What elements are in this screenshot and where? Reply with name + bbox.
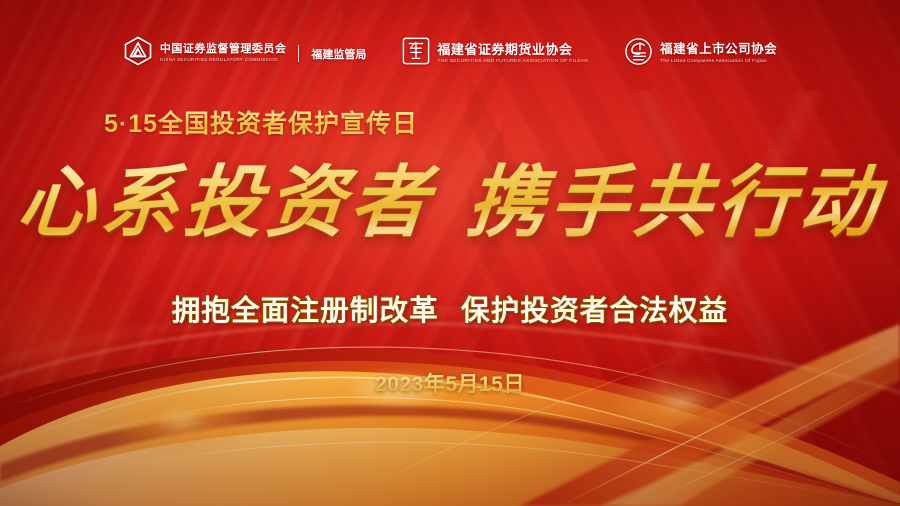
logo-csrc: 中国证券监督管理委员会 CHINA SECURITIES REGULATORY … (123, 36, 367, 71)
logo-fujian-securities-futures-association: 福建省证券期货业协会 THE SECURITIES AND FUTURES AS… (402, 37, 588, 70)
csrc-name-cn: 中国证券监督管理委员会 (160, 44, 287, 56)
logo-divider (298, 45, 299, 62)
csrc-logo-text: 中国证券监督管理委员会 CHINA SECURITIES REGULATORY … (160, 44, 287, 63)
fsfa-name-en: THE SECURITIES AND FUTURES ASSOCIATION O… (437, 59, 588, 64)
event-date: 2023年5月15日 (0, 368, 900, 398)
investor-protection-poster: 中国证券监督管理委员会 CHINA SECURITIES REGULATORY … (0, 0, 900, 506)
csrc-name-en: CHINA SECURITIES REGULATORY COMMISSION (160, 58, 287, 62)
headline-part-2: 携手共行动 (463, 157, 886, 248)
campaign-day-label: 5·15全国投资者保护宣传日 (104, 104, 418, 140)
flca-name-cn: 福建省上市公司协会 (660, 43, 777, 57)
headline-part-1: 心系投资者 (14, 157, 437, 248)
poster-content: 中国证券监督管理委员会 CHINA SECURITIES REGULATORY … (0, 0, 900, 506)
subheadline-part-1: 拥抱全面注册制改革 (172, 295, 439, 327)
csrc-bureau-suffix: 福建监管局 (311, 46, 366, 62)
flca-logo-text: 福建省上市公司协会 The Listed Companies Associati… (660, 43, 777, 64)
fujian-securities-futures-association-emblem-icon (402, 37, 430, 70)
logo-fujian-listed-companies-association: 福建省上市公司协会 The Listed Companies Associati… (624, 37, 777, 71)
csrc-emblem-icon (123, 36, 153, 71)
subheadline-part-2: 保护投资者合法权益 (461, 295, 728, 327)
organizer-logo-bar: 中国证券监督管理委员会 CHINA SECURITIES REGULATORY … (0, 36, 900, 71)
fsfa-name-cn: 福建省证券期货业协会 (437, 43, 588, 57)
fujian-listed-companies-association-emblem-icon (624, 37, 653, 71)
fsfa-logo-text: 福建省证券期货业协会 THE SECURITIES AND FUTURES AS… (437, 43, 588, 64)
main-headline: 心系投资者携手共行动 (0, 162, 900, 244)
flca-name-en: The Listed Companies Association Of Fuji… (660, 59, 777, 64)
sub-headline: 拥抱全面注册制改革保护投资者合法权益 (0, 288, 900, 329)
